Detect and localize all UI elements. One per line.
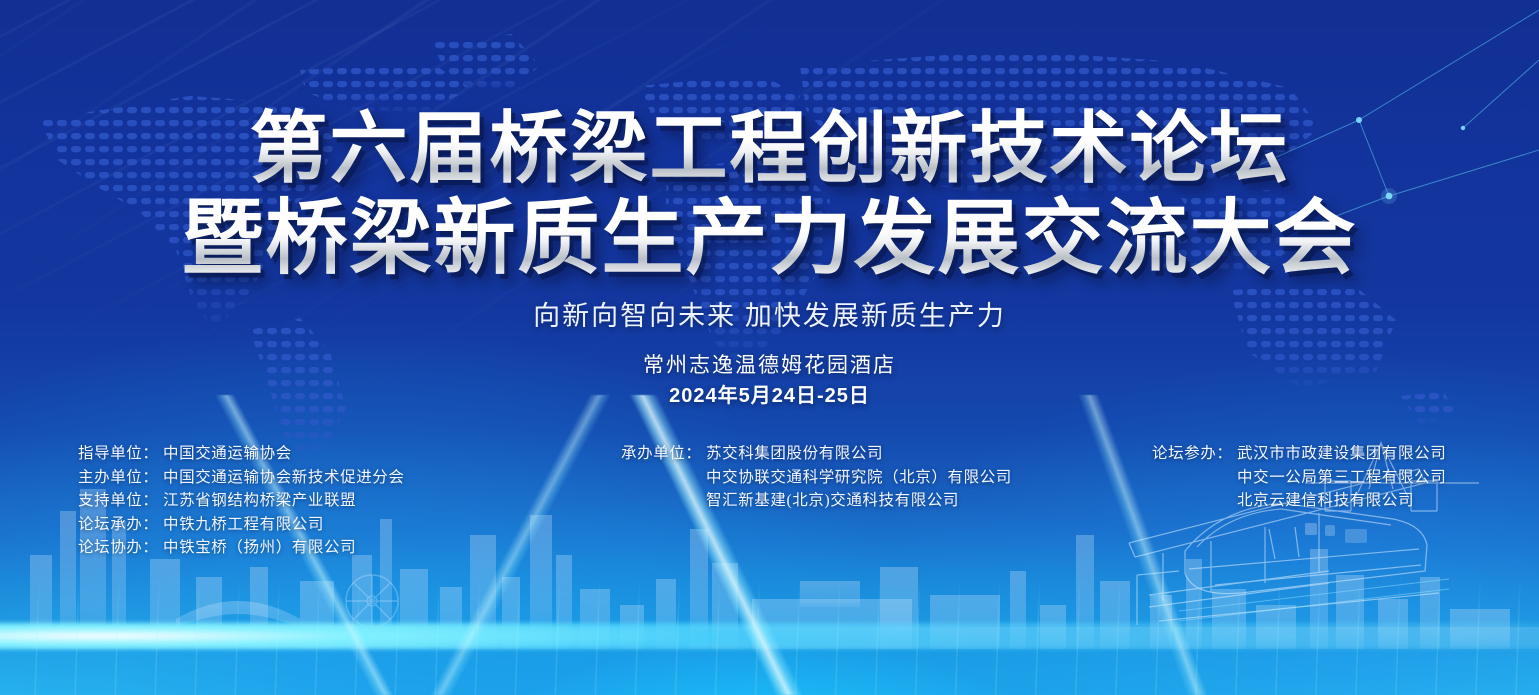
org-label: 承办单位： xyxy=(621,442,706,513)
org-value: 中国交通运输协会新技术促进分会 xyxy=(163,466,405,490)
org-value: 中交协联交通科学研究院（北京）有限公司 xyxy=(706,466,1012,490)
org-values: 中国交通运输协会 xyxy=(163,442,292,466)
org-value: 中铁九桥工程有限公司 xyxy=(163,513,324,537)
org-label: 论坛参办： xyxy=(1152,442,1237,513)
banner-content: 第六届桥梁工程创新技术论坛 暨桥梁新质生产力发展交流大会 向新向智向未来 加快发… xyxy=(0,0,1539,695)
org-label: 主办单位： xyxy=(78,466,163,490)
org-row: 指导单位： 中国交通运输协会 xyxy=(78,442,405,466)
title-line-2: 暨桥梁新质生产力发展交流大会 xyxy=(0,194,1539,284)
org-label: 论坛协办： xyxy=(78,536,163,560)
org-values: 中铁九桥工程有限公司 xyxy=(163,513,324,537)
org-value: 中交一公局第三工程有限公司 xyxy=(1237,466,1446,490)
org-value: 中铁宝桥（扬州）有限公司 xyxy=(163,536,356,560)
organizations-column-right: 论坛参办： 武汉市市政建设集团有限公司 中交一公局第三工程有限公司 北京云建信科… xyxy=(1152,442,1446,513)
org-values: 武汉市市政建设集团有限公司 中交一公局第三工程有限公司 北京云建信科技有限公司 xyxy=(1237,442,1446,513)
title-line-1: 第六届桥梁工程创新技术论坛 xyxy=(0,104,1539,194)
organizations-block: 指导单位： 中国交通运输协会 主办单位： 中国交通运输协会新技术促进分会 支持单… xyxy=(0,442,1539,562)
organizations-column-middle: 承办单位： 苏交科集团股份有限公司 中交协联交通科学研究院（北京）有限公司 智汇… xyxy=(621,442,1012,513)
org-value: 苏交科集团股份有限公司 xyxy=(706,442,1012,466)
conference-banner: 第六届桥梁工程创新技术论坛 暨桥梁新质生产力发展交流大会 向新向智向未来 加快发… xyxy=(0,0,1539,695)
org-label: 论坛承办： xyxy=(78,513,163,537)
event-date: 2024年5月24日-25日 xyxy=(0,379,1539,408)
org-row: 主办单位： 中国交通运输协会新技术促进分会 xyxy=(78,466,405,490)
org-row: 论坛承办： 中铁九桥工程有限公司 xyxy=(78,513,405,537)
org-label: 支持单位： xyxy=(78,489,163,513)
venue-name: 常州志逸温德姆花园酒店 xyxy=(0,352,1539,379)
org-values: 苏交科集团股份有限公司 中交协联交通科学研究院（北京）有限公司 智汇新基建(北京… xyxy=(706,442,1012,513)
slogan: 向新向智向未来 加快发展新质生产力 xyxy=(0,294,1539,333)
org-value: 北京云建信科技有限公司 xyxy=(1237,489,1446,513)
org-row: 承办单位： 苏交科集团股份有限公司 中交协联交通科学研究院（北京）有限公司 智汇… xyxy=(621,442,1012,513)
org-values: 江苏省钢结构桥梁产业联盟 xyxy=(163,489,356,513)
org-row: 论坛参办： 武汉市市政建设集团有限公司 中交一公局第三工程有限公司 北京云建信科… xyxy=(1152,442,1446,513)
organizations-column-left: 指导单位： 中国交通运输协会 主办单位： 中国交通运输协会新技术促进分会 支持单… xyxy=(78,442,405,560)
org-row: 支持单位： 江苏省钢结构桥梁产业联盟 xyxy=(78,489,405,513)
org-value: 江苏省钢结构桥梁产业联盟 xyxy=(163,489,356,513)
org-value: 武汉市市政建设集团有限公司 xyxy=(1237,442,1446,466)
org-values: 中铁宝桥（扬州）有限公司 xyxy=(163,536,356,560)
org-value: 智汇新基建(北京)交通科技有限公司 xyxy=(706,489,1012,513)
org-values: 中国交通运输协会新技术促进分会 xyxy=(163,466,405,490)
org-row: 论坛协办： 中铁宝桥（扬州）有限公司 xyxy=(78,536,405,560)
title-block: 第六届桥梁工程创新技术论坛 暨桥梁新质生产力发展交流大会 xyxy=(0,104,1539,284)
org-value: 中国交通运输协会 xyxy=(163,442,292,466)
org-label: 指导单位： xyxy=(78,442,163,466)
